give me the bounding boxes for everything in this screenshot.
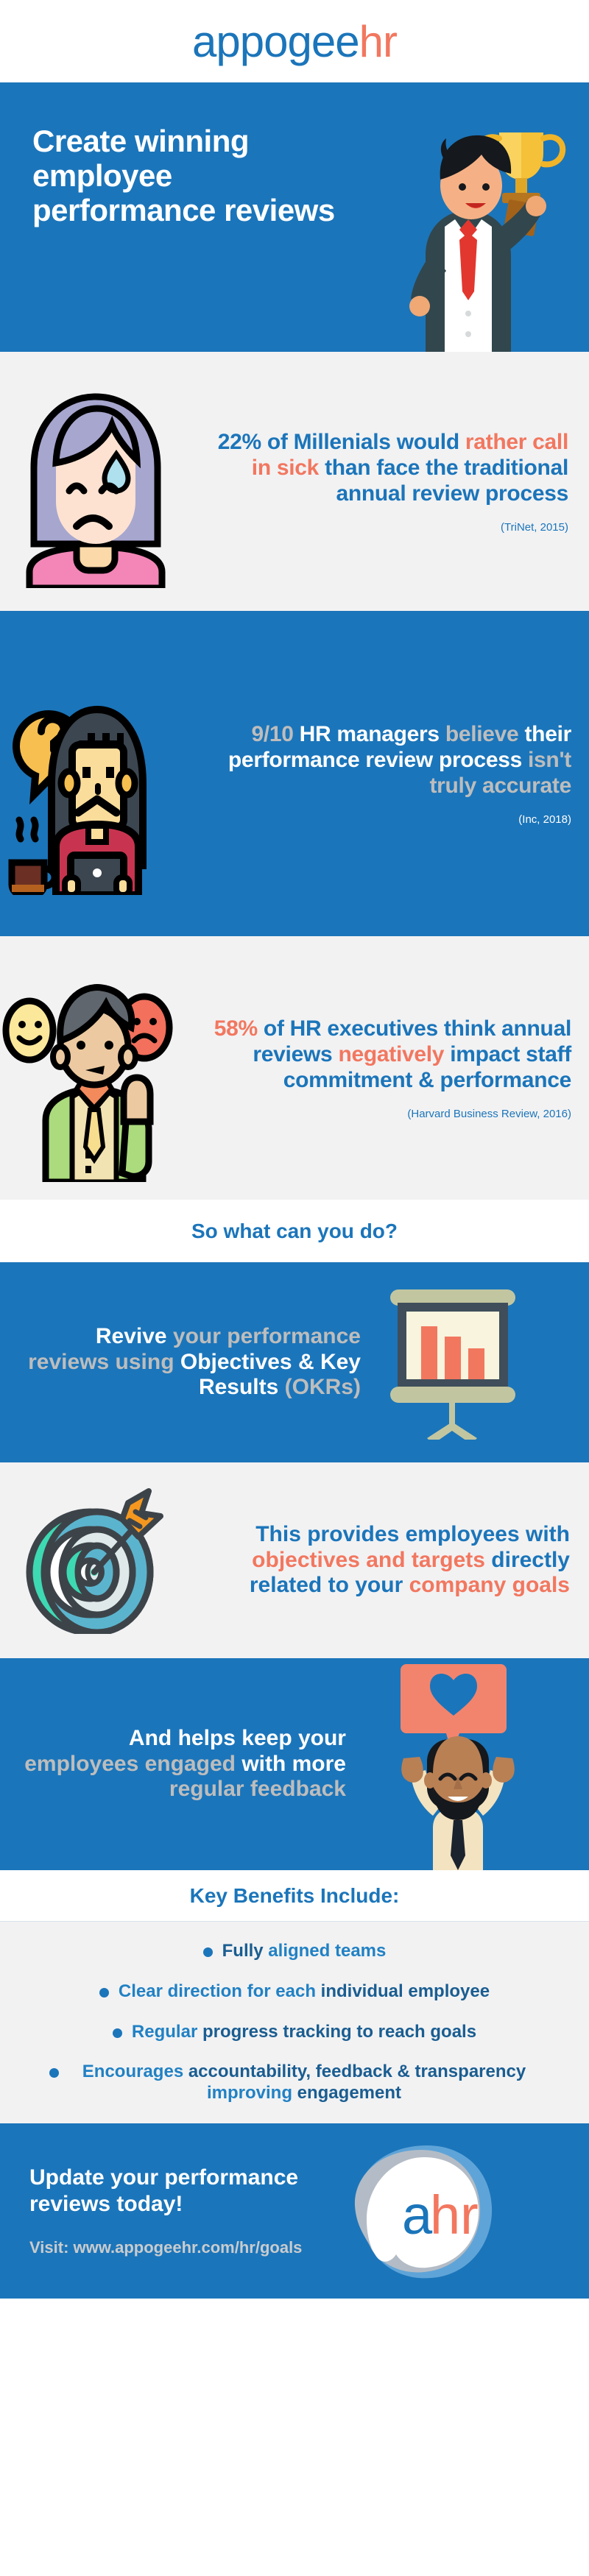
stat-source-millennial: (TriNet, 2015): [197, 521, 568, 534]
footer-cta-section: Update your performance reviews today! V…: [0, 2123, 589, 2299]
benefits-list: Fully aligned teams Clear direction for …: [0, 1922, 589, 2123]
benefits-heading: Key Benefits Include:: [190, 1884, 400, 1908]
engaged-section: And helps keep your employees engaged wi…: [0, 1658, 589, 1870]
stat-section-millennial: 22% of Millenials would rather call in s…: [0, 352, 589, 611]
stat-source-executives: (Harvard Business Review, 2016): [205, 1108, 571, 1120]
benefit-text: Clear direction for each individual empl…: [119, 1981, 490, 2003]
footer-title: Update your performance reviews today!: [29, 2165, 346, 2218]
footer-logo-hr: hr: [430, 2184, 479, 2246]
engaged-text: And helps keep your employees engaged wi…: [19, 1726, 346, 1802]
stat-section-executives: 58% of HR executives think annual review…: [0, 936, 589, 1200]
dartboard-arrow-icon: [13, 1487, 190, 1634]
man-holding-trophy-icon: [355, 109, 576, 352]
hero-title: Create winning employee performance revi…: [32, 124, 342, 227]
benefit-text: Encourages accountability, feedback & tr…: [68, 2062, 540, 2104]
benefit-text: Fully aligned teams: [222, 1941, 387, 1962]
objectives-section: This provides employees with objectives …: [0, 1462, 589, 1658]
header-logo-bar: appogeehr: [0, 0, 589, 82]
stat-copy-executives: 58% of HR executives think annual review…: [199, 1016, 589, 1120]
man-with-masks-icon: [0, 954, 199, 1182]
confused-man-laptop-icon: [0, 652, 199, 895]
stat-source-managers: (Inc, 2018): [205, 813, 571, 826]
ahr-blob-logo-icon: a hr: [353, 2141, 501, 2281]
hero-section: Create winning employee performance revi…: [0, 82, 589, 352]
benefit-text: Regular progress tracking to reach goals: [132, 2022, 476, 2043]
objectives-copy: This provides employees with objectives …: [190, 1522, 589, 1599]
stat-text-executives: 58% of HR executives think annual review…: [205, 1016, 571, 1093]
footer-visit-url[interactable]: Visit: www.appogeehr.com/hr/goals: [29, 2238, 346, 2257]
brand-logo-accent: hr: [359, 17, 397, 66]
footer-logo-a: a: [402, 2184, 433, 2246]
brand-logo-primary: appogee: [192, 17, 359, 66]
stat-text-managers: 9/10 HR managers believe their performan…: [205, 721, 571, 799]
stat-copy-millennial: 22% of Millenials would rather call in s…: [191, 429, 589, 534]
list-item: Fully aligned teams: [29, 1941, 560, 1962]
okr-section: Revive your performance reviews using Ob…: [0, 1262, 589, 1462]
presentation-board-chart-icon: [375, 1285, 530, 1440]
footer-copy: Update your performance reviews today! V…: [0, 2165, 346, 2257]
objectives-text: This provides employees with objectives …: [190, 1522, 570, 1599]
brand-logo: appogeehr: [192, 16, 397, 67]
okr-text: Revive your performance reviews using Ob…: [10, 1324, 361, 1401]
okr-copy: Revive your performance reviews using Ob…: [0, 1324, 361, 1401]
stat-section-managers: 9/10 HR managers believe their performan…: [0, 611, 589, 936]
bullet-icon: [113, 2028, 122, 2038]
stat-copy-managers: 9/10 HR managers believe their performan…: [199, 721, 589, 826]
list-item: Clear direction for each individual empl…: [29, 1981, 560, 2003]
bullet-icon: [49, 2068, 59, 2078]
so-what-section: So what can you do?: [0, 1200, 589, 1262]
so-what-heading: So what can you do?: [191, 1220, 398, 1243]
stressed-woman-icon: [0, 375, 191, 588]
bullet-icon: [203, 1947, 213, 1957]
list-item: Encourages accountability, feedback & tr…: [29, 2062, 560, 2104]
benefits-title-band: Key Benefits Include:: [0, 1870, 589, 1922]
bullet-icon: [99, 1988, 109, 1998]
stat-text-millennial: 22% of Millenials would rather call in s…: [197, 429, 568, 506]
engaged-copy: And helps keep your employees engaged wi…: [0, 1726, 346, 1802]
list-item: Regular progress tracking to reach goals: [29, 2022, 560, 2043]
cheering-man-heart-bubble-icon: [350, 1658, 564, 1870]
